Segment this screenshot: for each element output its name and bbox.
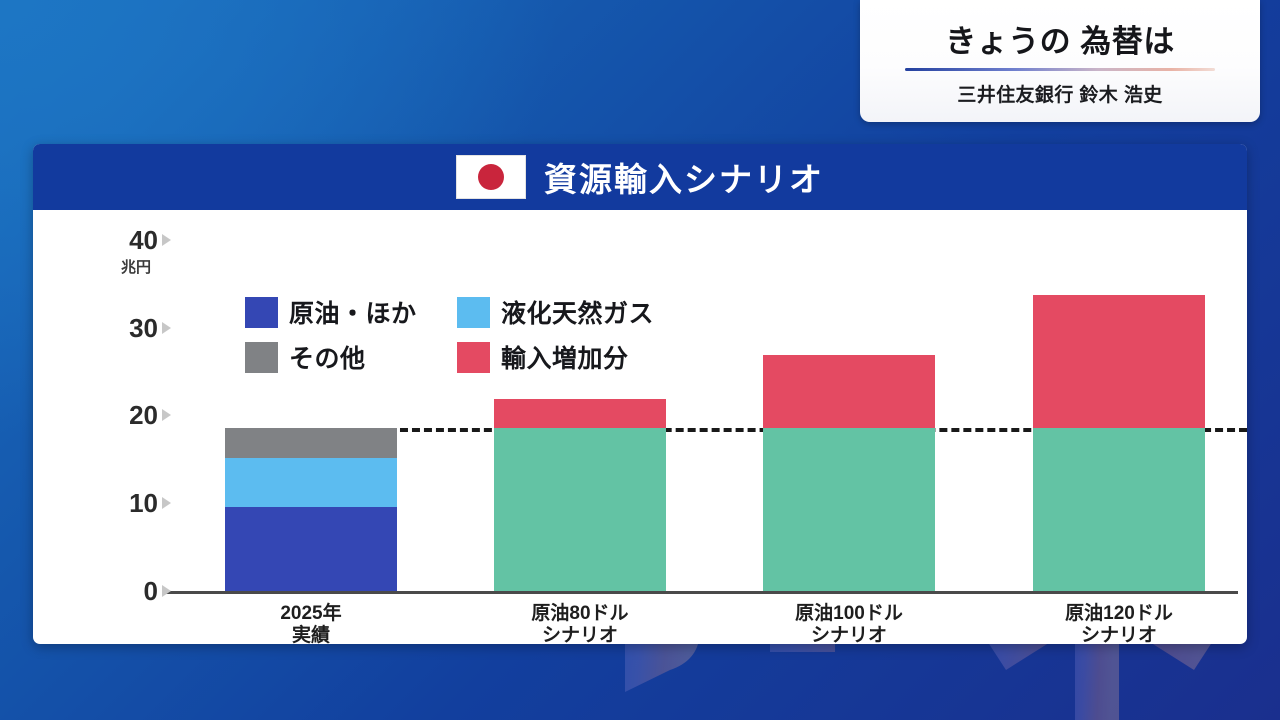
x-axis-label-2: 原油100ドルシナリオ — [718, 603, 980, 644]
bar-3 — [1033, 295, 1205, 591]
bar-0-segment-2 — [225, 428, 397, 458]
bar-0-segment-1 — [225, 458, 397, 507]
y-axis-tick-10: 10 — [93, 490, 171, 516]
legend-item-0: 原油・ほか — [245, 294, 457, 330]
y-axis-tick-label: 40 — [129, 227, 158, 253]
y-axis-unit-label: 兆円 — [121, 256, 151, 277]
legend-swatch-1 — [457, 297, 490, 328]
x-axis-label-line: 2025年 — [180, 603, 442, 625]
y-axis-tick-20: 20 — [93, 402, 171, 428]
bar-1 — [494, 399, 666, 591]
legend-item-1: 液化天然ガス — [457, 294, 654, 330]
legend-label-1: 液化天然ガス — [501, 294, 654, 330]
y-axis-tick-caret — [162, 322, 171, 334]
legend-row: その他 輸入増加分 — [245, 339, 715, 375]
bar-0-segment-0 — [225, 507, 397, 591]
chart-legend: 原油・ほか 液化天然ガス その他 輸入増加分 — [245, 294, 715, 384]
bar-2-segment-3 — [763, 428, 935, 591]
legend-item-2: その他 — [245, 339, 457, 375]
y-axis-tick-label: 20 — [129, 402, 158, 428]
legend-row: 原油・ほか 液化天然ガス — [245, 294, 715, 330]
y-axis-tick-caret — [162, 234, 171, 246]
x-axis-label-line: シナリオ — [988, 625, 1247, 644]
legend-label-2: その他 — [289, 339, 366, 375]
chart-card: 資源輸入シナリオ 兆円 原油・ほか 液化天然ガス — [33, 144, 1247, 644]
banner-title: きょうの 為替は — [945, 26, 1175, 57]
flag-disc — [478, 164, 504, 190]
chart-title-bar: 資源輸入シナリオ — [33, 144, 1247, 210]
x-axis-label-line: シナリオ — [449, 625, 711, 644]
legend-swatch-2 — [245, 342, 278, 373]
broadcast-graphic-stage: きょうの 為替は 三井住友銀行 鈴木 浩史 資源輸入シナリオ 兆円 原油・ほか — [0, 0, 1280, 720]
y-axis-tick-caret — [162, 585, 171, 597]
x-axis-label-0: 2025年実績 — [180, 603, 442, 644]
japan-flag-icon — [456, 155, 526, 199]
bar-2-segment-4 — [763, 355, 935, 428]
legend-swatch-0 — [245, 297, 278, 328]
x-axis-label-line: 原油120ドル — [988, 603, 1247, 625]
chart-title: 資源輸入シナリオ — [544, 153, 824, 201]
bar-3-segment-4 — [1033, 295, 1205, 428]
x-axis-label-3: 原油120ドルシナリオ — [988, 603, 1247, 644]
bar-2 — [763, 355, 935, 591]
banner-divider — [905, 68, 1215, 71]
legend-label-3: 輸入増加分 — [501, 339, 629, 375]
y-axis-tick-40: 40 — [93, 227, 171, 253]
chart-plot-area: 兆円 原油・ほか 液化天然ガス その他 — [33, 210, 1247, 644]
program-banner: きょうの 為替は 三井住友銀行 鈴木 浩史 — [860, 0, 1260, 122]
bar-3-segment-3 — [1033, 428, 1205, 591]
y-axis-tick-caret — [162, 497, 171, 509]
banner-subtitle: 三井住友銀行 鈴木 浩史 — [957, 80, 1162, 107]
legend-swatch-3 — [457, 342, 490, 373]
legend-label-0: 原油・ほか — [289, 294, 417, 330]
bar-0 — [225, 428, 397, 591]
y-axis-tick-label: 10 — [129, 490, 158, 516]
bar-1-segment-3 — [494, 428, 666, 591]
x-axis-line — [166, 591, 1238, 594]
y-axis-tick-label: 30 — [129, 315, 158, 341]
y-axis-tick-label: 0 — [144, 578, 158, 604]
y-axis-tick-30: 30 — [93, 315, 171, 341]
x-axis-label-line: 実績 — [180, 625, 442, 644]
x-axis-label-line: シナリオ — [718, 625, 980, 644]
legend-item-3: 輸入増加分 — [457, 339, 629, 375]
x-axis-label-line: 原油100ドル — [718, 603, 980, 625]
y-axis-tick-caret — [162, 409, 171, 421]
x-axis-label-1: 原油80ドルシナリオ — [449, 603, 711, 644]
bar-1-segment-4 — [494, 399, 666, 428]
y-axis-tick-0: 0 — [93, 578, 171, 604]
x-axis-label-line: 原油80ドル — [449, 603, 711, 625]
